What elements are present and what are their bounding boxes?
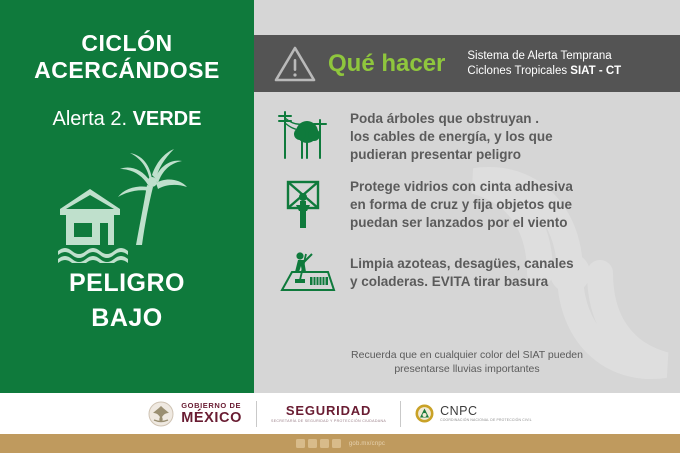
infographic-poster: CICLÓN ACERCÁNDOSE Alerta 2. VERDE [0, 0, 680, 453]
tip-item: Poda árboles que obstruyan . los cables … [254, 100, 680, 170]
tips-list: Poda árboles que obstruyan . los cables … [254, 100, 680, 310]
alert-level-line: Alerta 2. VERDE [53, 107, 202, 131]
cnpc-sublabel: COORDINACIÓN NACIONAL DE PROTECCIÓN CIVI… [440, 419, 532, 422]
mexico-label: MÉXICO [181, 411, 242, 426]
siat-line-2-prefix: Ciclones Tropicales [467, 65, 570, 77]
cnpc-seal-icon [415, 404, 434, 423]
tip-line: en forma de cruz y fija objetos que [350, 196, 573, 214]
siat-line-1: Sistema de Alerta Temprana [467, 49, 621, 64]
gobierno-mexico-logo: GOBIERNO DE MÉXICO [148, 401, 242, 427]
government-logo-bar: GOBIERNO DE MÉXICO SEGURIDAD SECRETARÍA … [0, 393, 680, 434]
facebook-icon[interactable] [296, 439, 305, 448]
tip-line: los cables de energía, y los que [350, 128, 553, 146]
tip-line: Limpia azoteas, desagües, canales [350, 255, 574, 273]
tip-item: Protege vidrios con cinta adhesiva en fo… [254, 170, 680, 240]
instagram-icon[interactable] [320, 439, 329, 448]
section-heading: Qué hacer [328, 50, 445, 78]
tip-text: Protege vidrios con cinta adhesiva en fo… [350, 176, 573, 232]
siat-line-2: Ciclones Tropicales SIAT - CT [467, 64, 621, 79]
tip-line: y coladeras. EVITA tirar basura [350, 273, 574, 291]
logo-divider [256, 401, 257, 427]
gob-url-label[interactable]: gob.mx/cnpc [349, 441, 385, 447]
house-palm-waves-icon [52, 145, 202, 263]
seguridad-label: SEGURIDAD [286, 403, 371, 418]
power-lines-tree-icon [276, 106, 338, 164]
danger-level-line2: BAJO [91, 304, 162, 333]
seguridad-logo: SEGURIDAD SECRETARÍA DE SEGURIDAD Y PROT… [271, 404, 386, 424]
tip-item: Limpia azoteas, desagües, canales y cola… [254, 240, 680, 310]
tip-line: Protege vidrios con cinta adhesiva [350, 178, 573, 196]
tip-text: Limpia azoteas, desagües, canales y cola… [350, 246, 574, 291]
alert-level-prefix: Alerta 2. [53, 108, 133, 130]
tip-line: pudieran presentar peligro [350, 146, 553, 164]
warning-triangle-icon [274, 45, 316, 83]
cyclone-title-line1: CICLÓN [81, 30, 172, 57]
reminder-note: Recuerda que en cualquier color del SIAT… [254, 348, 680, 376]
tip-text: Poda árboles que obstruyan . los cables … [350, 106, 553, 164]
flickr-icon[interactable] [308, 439, 317, 448]
tip-line: puedan ser lanzados por el viento [350, 214, 573, 232]
alert-left-panel: CICLÓN ACERCÁNDOSE Alerta 2. VERDE [0, 0, 254, 393]
rooftop-cleaning-icon [276, 246, 338, 304]
taped-window-icon [276, 176, 338, 234]
cnpc-text: CNPC COORDINACIÓN NACIONAL DE PROTECCIÓN… [440, 405, 532, 423]
siat-acronym: SIAT - CT [570, 65, 621, 77]
alert-level-value: VERDE [133, 108, 202, 130]
reminder-line: presentarse lluvias importantes [254, 362, 680, 376]
danger-level-line1: PELIGRO [69, 269, 185, 298]
reminder-line: Recuerda que en cualquier color del SIAT… [254, 348, 680, 362]
section-header-bar: Qué hacer Sistema de Alerta Temprana Cic… [254, 35, 680, 92]
cnpc-label: CNPC [440, 405, 532, 418]
instructions-panel: Qué hacer Sistema de Alerta Temprana Cic… [254, 0, 680, 393]
cyclone-title-line2: ACERCÁNDOSE [34, 57, 220, 84]
social-footer-bar: gob.mx/cnpc [0, 434, 680, 453]
mexico-eagle-seal-icon [148, 401, 174, 427]
logo-divider [400, 401, 401, 427]
cnpc-logo: CNPC COORDINACIÓN NACIONAL DE PROTECCIÓN… [415, 404, 532, 423]
gobierno-label: GOBIERNO DE [181, 402, 242, 410]
youtube-icon[interactable] [332, 439, 341, 448]
seguridad-sublabel: SECRETARÍA DE SEGURIDAD Y PROTECCIÓN CIU… [271, 420, 386, 424]
gobierno-mexico-text: GOBIERNO DE MÉXICO [181, 402, 242, 425]
siat-system-label: Sistema de Alerta Temprana Ciclones Trop… [467, 49, 621, 79]
tip-line: Poda árboles que obstruyan . [350, 110, 553, 128]
